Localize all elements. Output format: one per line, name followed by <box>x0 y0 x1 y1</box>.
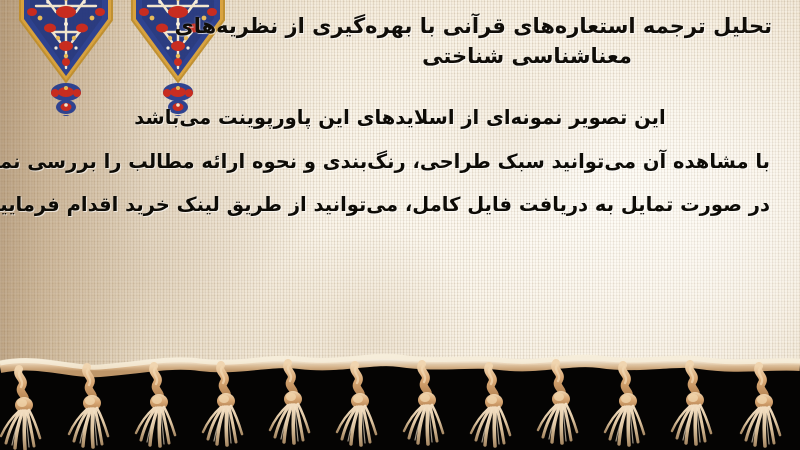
slide-body-text: این تصویر نمونه‌ای از اسلایدهای این پاور… <box>30 108 770 215</box>
title-line-1: تحلیل ترجمه استعاره‌های قرآنی با بهره‌گی… <box>282 12 772 42</box>
body-line-1: این تصویر نمونه‌ای از اسلایدهای این پاور… <box>30 108 770 128</box>
presentation-slide: تحلیل ترجمه استعاره‌های قرآنی با بهره‌گی… <box>0 0 800 450</box>
body-line-2: با مشاهده آن می‌توانید سبک طراحی، رنگ‌بن… <box>30 152 770 172</box>
carpet-fringe-band <box>0 345 800 450</box>
slide-title: تحلیل ترجمه استعاره‌های قرآنی با بهره‌گی… <box>282 12 772 72</box>
body-line-3: در صورت تمایل به دریافت فایل کامل، می‌تو… <box>30 195 770 215</box>
title-line-2: معناشناسی شناختی <box>282 42 772 72</box>
